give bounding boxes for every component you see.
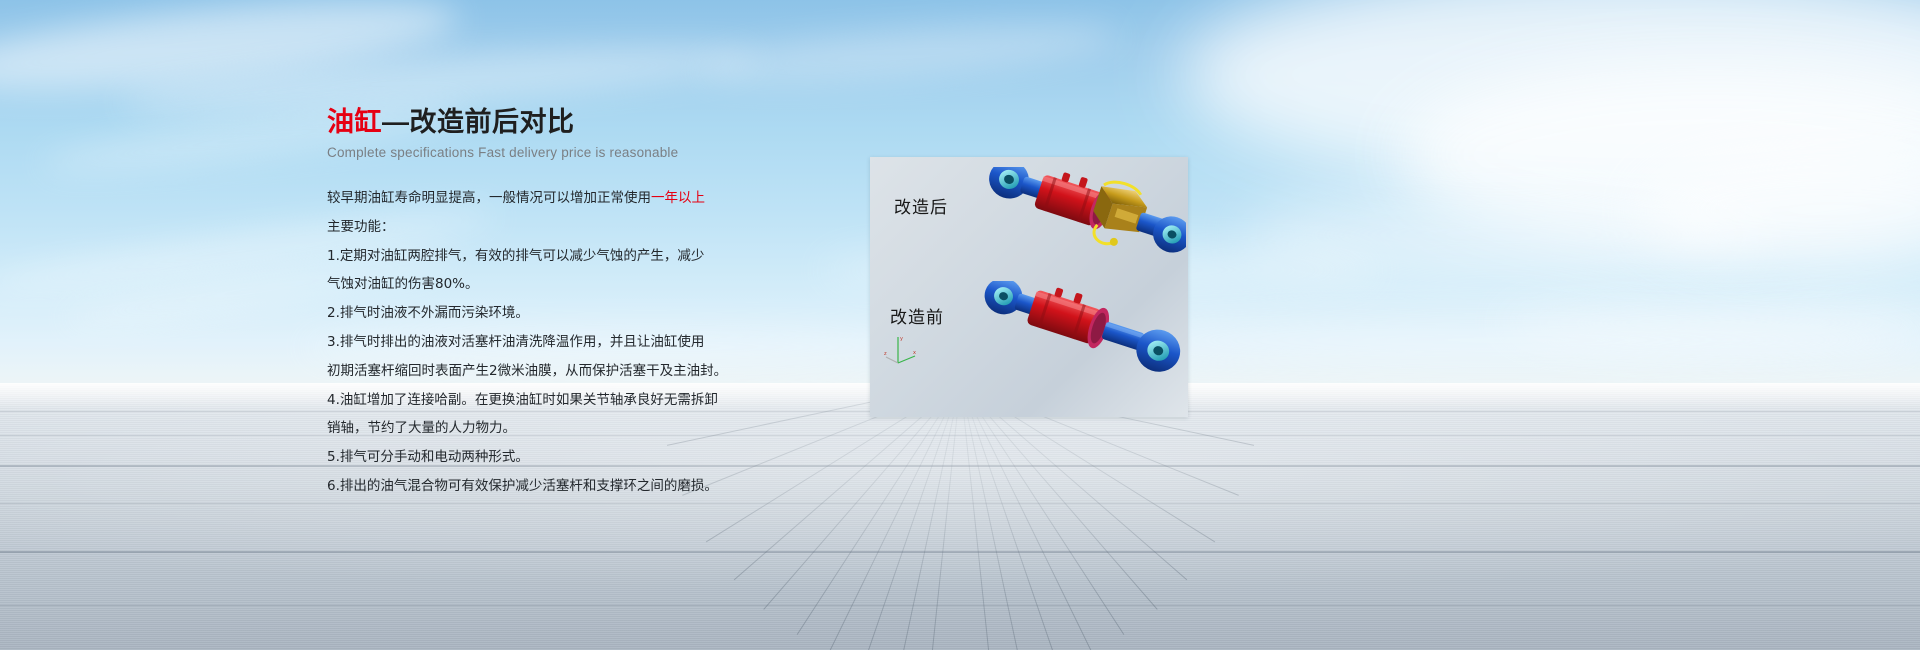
description-line-text: 较早期油缸寿命明显提高，一般情况可以增加正常使用 <box>327 190 651 206</box>
banner-stage: 油缸—改造前后对比 Complete specifications Fast d… <box>0 0 1920 650</box>
description-line-text: 2.排气时油液不外漏而污染环境。 <box>327 305 529 321</box>
cylinder-after-illustration <box>970 167 1186 285</box>
ground-seam-line <box>0 503 1920 504</box>
ground-seam-line <box>0 551 1920 553</box>
copy-block: 油缸—改造前后对比 Complete specifications Fast d… <box>327 105 797 501</box>
description-line: 4.油缸增加了连接哈副。在更换油缸时如果关节轴承良好无需拆卸 <box>327 386 797 415</box>
ground-tile-line <box>797 383 961 635</box>
description-line: 气蚀对油缸的伤害80%。 <box>327 270 797 299</box>
page-title: 油缸—改造前后对比 <box>327 105 797 139</box>
cloud-wisp <box>699 12 1121 94</box>
description-line: 3.排气时排出的油液对活塞杆油清洗降温作用，并且让油缸使用 <box>327 328 797 357</box>
ground-seam-line <box>0 465 1920 467</box>
label-after-modification: 改造后 <box>894 193 948 218</box>
ground-tile-line <box>960 383 1158 610</box>
description-line-text: 6.排出的油气混合物可有效保护减少活塞杆和支撑环之间的磨损。 <box>327 478 718 494</box>
description-line-text: 1.定期对油缸两腔排气，有效的排气可以减少气蚀的产生，减少 <box>327 248 704 264</box>
page-title-rest: —改造前后对比 <box>382 107 575 137</box>
description-line-text: 初期活塞杆缩回时表面产生2微米油膜，从而保护活塞干及主油封。 <box>327 363 727 379</box>
description-line: 销轴，节约了大量的人力物力。 <box>327 414 797 443</box>
description-line: 6.排出的油气混合物可有效保护减少活塞杆和支撑环之间的磨损。 <box>327 472 797 501</box>
description-line: 1.定期对油缸两腔排气，有效的排气可以减少气蚀的产生，减少 <box>327 242 797 271</box>
cylinder-before-illustration <box>966 281 1186 409</box>
description-line: 初期活塞杆缩回时表面产生2微米油膜，从而保护活塞干及主油封。 <box>327 357 797 386</box>
cloud-wisp <box>1080 320 1920 360</box>
page-subtitle: Complete specifications Fast delivery pr… <box>327 145 797 160</box>
ground-tile-line <box>960 383 1124 635</box>
product-comparison-panel: 改造后 改造前 <box>870 157 1188 417</box>
ground-tile-line <box>960 383 1023 650</box>
coordinate-axis-icon: y z x <box>884 333 918 367</box>
description-line-text: 气蚀对油缸的伤害80%。 <box>327 276 479 292</box>
description-line-highlight: 一年以上 <box>651 190 705 206</box>
description-line-text: 主要功能： <box>327 219 395 235</box>
plaza-ground <box>0 383 1920 650</box>
description-line: 5.排气可分手动和电动两种形式。 <box>327 443 797 472</box>
perspective-tile-lines <box>0 383 1920 650</box>
page-title-accent: 油缸 <box>327 107 382 137</box>
svg-text:x: x <box>913 350 916 356</box>
ground-tile-line <box>898 383 961 650</box>
description-paragraph: 较早期油缸寿命明显提高，一般情况可以增加正常使用一年以上主要功能：1.定期对油缸… <box>327 184 797 501</box>
description-line-text: 3.排气时排出的油液对活塞杆油清洗降温作用，并且让油缸使用 <box>327 334 704 350</box>
description-line-text: 销轴，节约了大量的人力物力。 <box>327 420 516 436</box>
label-before-modification: 改造前 <box>890 303 944 328</box>
description-line-text: 5.排气可分手动和电动两种形式。 <box>327 449 529 465</box>
description-line-text: 4.油缸增加了连接哈副。在更换油缸时如果关节轴承良好无需拆卸 <box>327 392 718 408</box>
svg-text:z: z <box>884 351 887 357</box>
ground-seam-line <box>0 605 1920 606</box>
ground-seam-line <box>0 435 1920 436</box>
description-line: 主要功能： <box>327 213 797 242</box>
description-line: 较早期油缸寿命明显提高，一般情况可以增加正常使用一年以上 <box>327 184 797 213</box>
description-line: 2.排气时油液不外漏而污染环境。 <box>327 299 797 328</box>
svg-text:y: y <box>900 336 903 342</box>
